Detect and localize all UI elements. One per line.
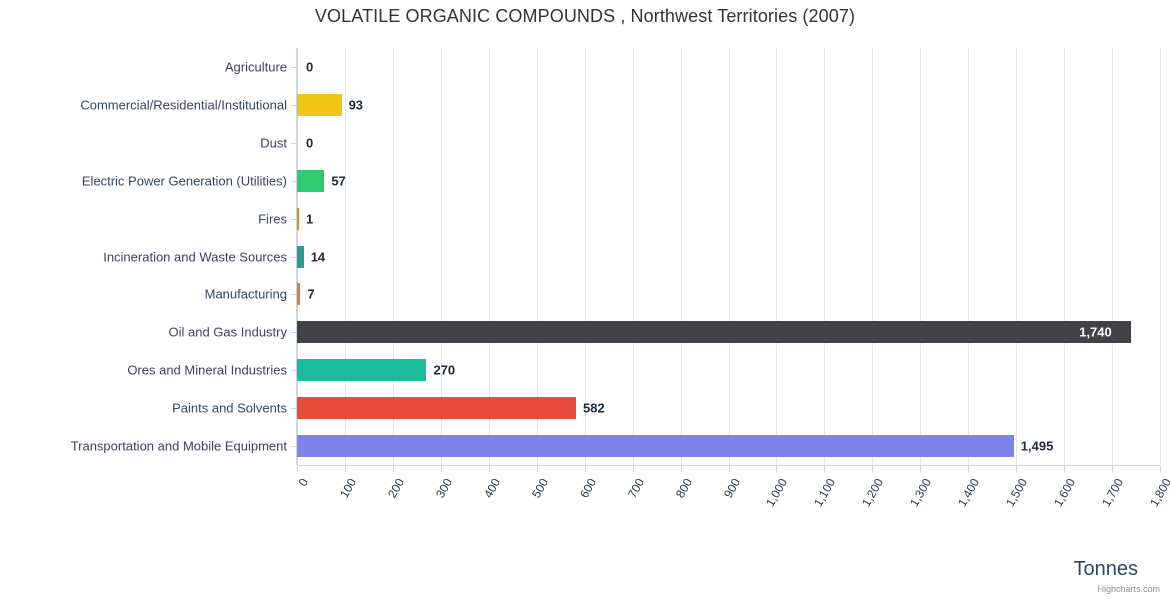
x-axis-tick-mark	[1160, 466, 1161, 472]
y-axis-category-label: Electric Power Generation (Utilities)	[82, 173, 287, 188]
bar-value-label: 270	[433, 363, 455, 378]
bar-value-label: 0	[306, 59, 313, 74]
x-axis-tick-label: 700	[604, 476, 647, 537]
y-axis-tick-mark	[291, 446, 297, 447]
chart-title: VOLATILE ORGANIC COMPOUNDS , Northwest T…	[0, 6, 1170, 27]
x-axis-tick-label: 1,100	[795, 476, 838, 537]
x-axis-tick-mark	[1064, 466, 1065, 472]
x-axis-tick-mark	[729, 466, 730, 472]
gridline	[872, 48, 873, 465]
bar[interactable]	[297, 435, 1014, 457]
x-axis-tick-mark	[1112, 466, 1113, 472]
x-axis-tick-mark	[824, 466, 825, 472]
y-axis-category-label: Commercial/Residential/Institutional	[80, 97, 287, 112]
gridline	[1112, 48, 1113, 465]
x-axis-tick-label: 1,300	[891, 476, 934, 537]
bar-value-label: 7	[307, 287, 314, 302]
y-axis-tick-mark	[291, 408, 297, 409]
bar-value-label: 1	[306, 211, 313, 226]
y-axis-category-label: Paints and Solvents	[172, 401, 287, 416]
y-axis-tick-mark	[291, 257, 297, 258]
gridline	[1016, 48, 1017, 465]
x-axis-tick-mark	[776, 466, 777, 472]
y-axis-category-label: Fires	[258, 211, 287, 226]
x-axis-tick-label: 300	[412, 476, 455, 537]
x-axis-tick-mark	[681, 466, 682, 472]
y-axis-tick-mark	[291, 332, 297, 333]
y-axis-category-label: Manufacturing	[205, 287, 287, 302]
credits-label: Highcharts.com	[1097, 584, 1160, 594]
y-axis-tick-mark	[291, 105, 297, 106]
x-axis-tick-mark	[393, 466, 394, 472]
y-axis-category-label: Incineration and Waste Sources	[103, 249, 287, 264]
y-axis-tick-mark	[291, 370, 297, 371]
y-axis-tick-mark	[291, 67, 297, 68]
bar[interactable]	[297, 283, 300, 305]
x-axis-tick-label: 1,400	[939, 476, 982, 537]
x-axis-tick-label: 600	[556, 476, 599, 537]
x-axis-tick-mark	[968, 466, 969, 472]
gridline	[1160, 48, 1161, 465]
chart-container: VOLATILE ORGANIC COMPOUNDS , Northwest T…	[0, 0, 1170, 600]
bar-value-label: 582	[583, 401, 605, 416]
bar[interactable]	[297, 397, 576, 419]
y-axis-category-label: Transportation and Mobile Equipment	[71, 439, 287, 454]
y-axis-category-label: Ores and Mineral Industries	[127, 363, 287, 378]
bar-value-label: 57	[331, 173, 345, 188]
x-axis-tick-label: 500	[508, 476, 551, 537]
x-axis-tick-label: 200	[364, 476, 407, 537]
x-axis-tick-mark	[872, 466, 873, 472]
gridline	[968, 48, 969, 465]
x-axis-tick-label: 0	[268, 476, 311, 537]
gridline	[633, 48, 634, 465]
y-axis-category-label: Dust	[260, 135, 287, 150]
y-axis-tick-mark	[291, 181, 297, 182]
bar[interactable]	[297, 208, 299, 230]
x-axis-tick-label: 900	[700, 476, 743, 537]
gridline	[681, 48, 682, 465]
gridline	[824, 48, 825, 465]
x-axis-tick-label: 1,800	[1131, 476, 1170, 537]
bar-value-label: 1,740	[1079, 325, 1112, 340]
x-axis-tick-label: 1,500	[987, 476, 1030, 537]
bar[interactable]	[297, 94, 342, 116]
bar[interactable]	[297, 170, 324, 192]
y-axis-tick-mark	[291, 294, 297, 295]
x-axis-tick-mark	[585, 466, 586, 472]
bar[interactable]	[297, 359, 426, 381]
x-axis-tick-mark	[441, 466, 442, 472]
bar-value-label: 93	[349, 97, 363, 112]
x-axis-tick-label: 1,700	[1083, 476, 1126, 537]
x-axis-tick-label: 1,600	[1035, 476, 1078, 537]
x-axis-tick-mark	[920, 466, 921, 472]
x-axis-tick-mark	[489, 466, 490, 472]
x-axis-tick-label: 800	[652, 476, 695, 537]
x-axis-tick-label: 1,200	[843, 476, 886, 537]
plot-area: 09305711471,7402705821,495	[297, 48, 1160, 465]
x-axis-title: Tonnes	[1074, 558, 1139, 581]
x-axis-tick-label: 1,000	[747, 476, 790, 537]
gridline	[729, 48, 730, 465]
bar[interactable]	[297, 321, 1131, 343]
y-axis-category-label: Oil and Gas Industry	[169, 325, 288, 340]
x-axis-tick-mark	[345, 466, 346, 472]
x-axis-tick-mark	[297, 466, 298, 472]
x-axis-tick-mark	[1016, 466, 1017, 472]
gridline	[920, 48, 921, 465]
x-axis-tick-mark	[537, 466, 538, 472]
bar-value-label: 14	[311, 249, 325, 264]
gridline	[1064, 48, 1065, 465]
x-axis-tick-mark	[633, 466, 634, 472]
x-axis-tick-label: 100	[316, 476, 359, 537]
y-axis-tick-mark	[291, 143, 297, 144]
bar-value-label: 1,495	[1021, 439, 1054, 454]
gridline	[776, 48, 777, 465]
bar-value-label: 0	[306, 135, 313, 150]
x-axis-tick-label: 400	[460, 476, 503, 537]
y-axis-tick-mark	[291, 219, 297, 220]
bar[interactable]	[297, 246, 304, 268]
y-axis-category-label: Agriculture	[225, 59, 287, 74]
